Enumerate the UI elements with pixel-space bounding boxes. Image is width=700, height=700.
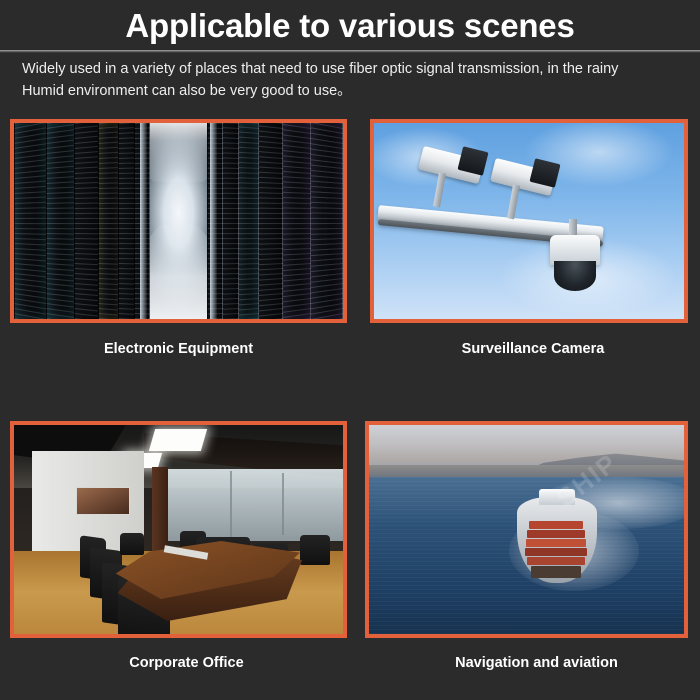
office-glass-mullion bbox=[230, 471, 232, 537]
cargo-hold-shadow bbox=[531, 566, 581, 578]
office-wall-artwork bbox=[76, 487, 130, 515]
page-header: Applicable to various scenes bbox=[0, 0, 700, 50]
scene-grid: Electronic Equipment bbox=[0, 112, 700, 700]
office-glass-mullion bbox=[282, 473, 284, 535]
cargo-container bbox=[525, 548, 587, 556]
scene-card-electronic-equipment[interactable]: Electronic Equipment bbox=[10, 119, 347, 369]
server-rack bbox=[280, 123, 311, 319]
scene-card-surveillance-camera[interactable]: Surveillance Camera bbox=[370, 119, 688, 369]
office-chair bbox=[300, 535, 330, 565]
photo-frame-corporate-office[interactable] bbox=[10, 421, 347, 638]
server-rack bbox=[14, 123, 49, 319]
conference-room-interior-photo bbox=[14, 425, 343, 634]
scene-card-corporate-office[interactable]: Corporate Office bbox=[10, 421, 347, 681]
surveillance-cameras-on-pole-photo bbox=[374, 123, 684, 319]
intro-line-1: Widely used in a variety of places that … bbox=[22, 58, 700, 80]
scene-caption: Corporate Office bbox=[18, 655, 355, 671]
server-rack bbox=[46, 123, 77, 319]
camera-bracket bbox=[507, 185, 520, 220]
photo-frame-electronic-equipment[interactable] bbox=[10, 119, 347, 323]
intro-line-2: Humid environment can also be very good … bbox=[22, 80, 700, 102]
scene-showcase-page: Applicable to various scenes Widely used… bbox=[0, 0, 700, 700]
cargo-container bbox=[527, 557, 585, 565]
data-center-server-racks-photo bbox=[14, 123, 343, 319]
coastal-shoreline bbox=[369, 465, 684, 477]
photo-frame-navigation-aviation[interactable]: SHIP bbox=[365, 421, 688, 638]
scene-card-navigation-aviation[interactable]: SHIP Navigation and aviation bbox=[365, 421, 688, 681]
intro-paragraph: Widely used in a variety of places that … bbox=[22, 58, 700, 102]
page-title: Applicable to various scenes bbox=[125, 9, 574, 42]
dome-camera-lens bbox=[554, 261, 596, 291]
photo-frame-surveillance-camera[interactable] bbox=[370, 119, 688, 323]
cargo-container bbox=[529, 521, 583, 529]
cargo-container bbox=[527, 530, 585, 538]
rack-edge-highlight bbox=[140, 123, 147, 319]
rack-edge-highlight bbox=[210, 123, 217, 319]
office-ceiling-light bbox=[149, 429, 207, 451]
container-ship-at-sea-photo: SHIP bbox=[369, 425, 684, 634]
scene-caption: Electronic Equipment bbox=[10, 341, 347, 357]
server-rack bbox=[256, 123, 283, 319]
title-divider bbox=[0, 50, 700, 53]
scene-caption: Navigation and aviation bbox=[375, 655, 698, 671]
scene-caption: Surveillance Camera bbox=[374, 341, 692, 357]
cargo-container bbox=[526, 539, 586, 547]
server-rack bbox=[308, 123, 343, 319]
office-chair bbox=[120, 533, 144, 555]
